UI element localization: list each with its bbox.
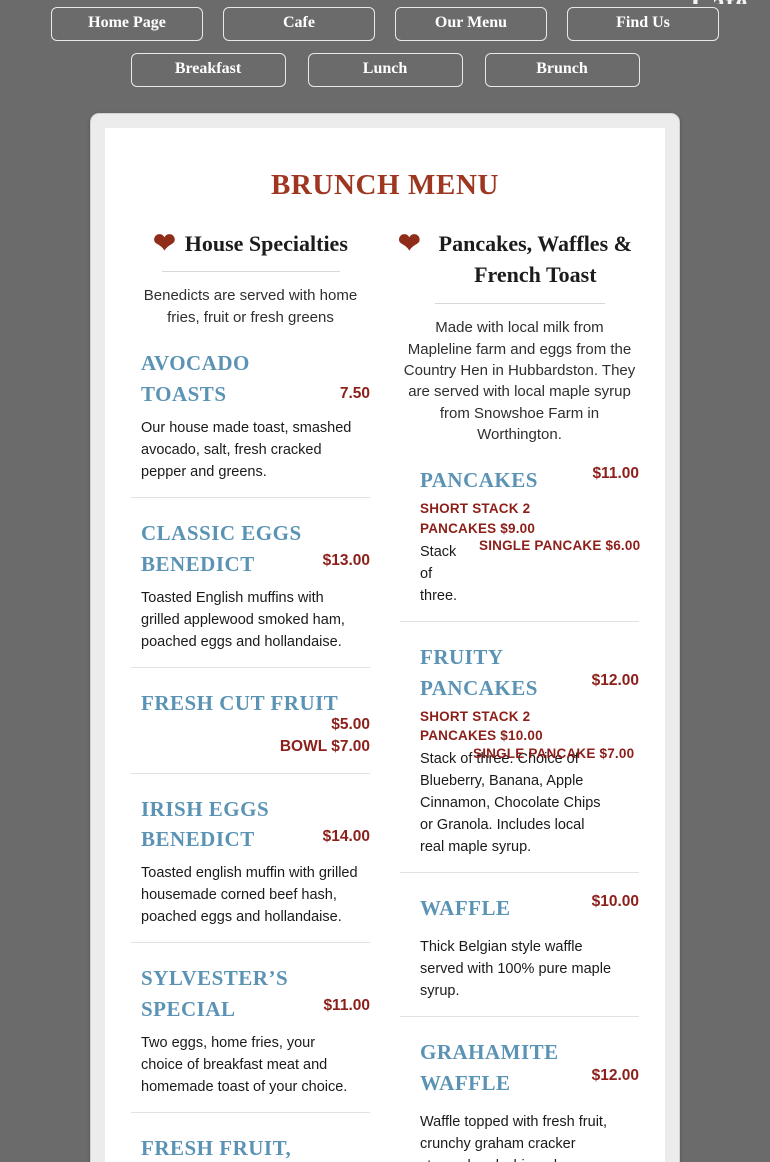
menu-item-name: SYLVESTER’S SPECIAL: [141, 963, 313, 1025]
menu-page-frame: BRUNCH MENU ❤ House Specialties Benedict…: [90, 113, 680, 1162]
menu-item-description: Our house made toast, smashed avocado, s…: [141, 417, 356, 483]
site-logo[interactable]: Cafe: [692, 0, 748, 4]
section-heading-label: House Specialties: [185, 228, 348, 260]
menu-item-name: FRUITY PANCAKES: [420, 642, 545, 704]
menu-item-price: $12.00: [592, 670, 639, 692]
menu-item[interactable]: IRISH EGGS BENEDICT $14.00 Toasted engli…: [129, 774, 372, 943]
menu-item-name: GRAHAMITE WAFFLE: [420, 1037, 570, 1099]
menu-item-description: Stack of three.: [420, 541, 470, 607]
section-note: Made with local milk from Mapleline farm…: [398, 317, 641, 445]
menu-item-price: $14.00: [323, 826, 370, 848]
menu-item-name: IRISH EGGS BENEDICT: [141, 794, 313, 856]
menu-item[interactable]: PANCAKES $11.00 SHORT STACK 2 PANCAKES $…: [398, 445, 641, 621]
menu-item-description: Waffle topped with fresh fruit, crunchy …: [420, 1111, 620, 1162]
menu-item[interactable]: FRUITY PANCAKES $12.00 SHORT STACK 2 PAN…: [398, 622, 641, 873]
menu-item-name: WAFFLE: [420, 893, 592, 924]
heart-icon: ❤: [153, 229, 176, 257]
menu-item-price: $12.00: [592, 1065, 639, 1087]
section-heading-pancakes: ❤ Pancakes, Waffles & French Toast: [398, 228, 641, 292]
menu-item-price: $11.00: [323, 995, 370, 1017]
menu-item-price: $13.00: [323, 550, 370, 572]
menu-item-price: 7.50: [340, 383, 370, 405]
top-navigation: Cafe Home Page Cafe Our Menu Find Us Bre…: [0, 0, 770, 87]
nav-row-secondary: Breakfast Lunch Brunch: [0, 53, 770, 87]
menu-item-name: CLASSIC EGGS BENEDICT: [141, 518, 313, 580]
menu-item[interactable]: WAFFLE $10.00 Thick Belgian style waffle…: [398, 873, 641, 1016]
menu-item-name: FRESH CUT FRUIT: [141, 688, 356, 719]
nav-brunch[interactable]: Brunch: [485, 53, 640, 87]
menu-item[interactable]: SYLVESTER’S SPECIAL $11.00 Two eggs, hom…: [129, 943, 372, 1112]
menu-item[interactable]: FRESH CUT FRUIT $5.00 BOWL $7.00: [129, 668, 372, 773]
menu-item-description: Toasted english muffin with grilled hous…: [141, 862, 363, 928]
menu-item-description: Thick Belgian style waffle served with 1…: [420, 936, 625, 1002]
menu-item-name: FRESH FRUIT, YOGURT &: [141, 1133, 313, 1162]
section-heading-house-specialties: ❤ House Specialties: [129, 228, 372, 260]
menu-item-price: $5.00: [331, 714, 370, 736]
nav-find-us[interactable]: Find Us: [567, 7, 719, 41]
menu-item-name: AVOCADO TOASTS: [141, 348, 313, 410]
menu-item-description: Stack of three. Choice of Blueberry, Ban…: [420, 748, 610, 858]
menu-item[interactable]: GRAHAMITE WAFFLE $12.00 Waffle topped wi…: [398, 1017, 641, 1162]
column-pancakes-waffles-french-toast: ❤ Pancakes, Waffles & French Toast Made …: [398, 228, 641, 1162]
menu-item-short-stack-price: SHORT STACK 2 PANCAKES $10.00: [420, 707, 600, 747]
column-house-specialties: ❤ House Specialties Benedicts are served…: [129, 228, 372, 1162]
menu-item-price: $11.00: [592, 463, 639, 485]
menu-item-short-stack-price: SHORT STACK 2 PANCAKES $9.00: [420, 499, 595, 539]
nav-our-menu[interactable]: Our Menu: [395, 7, 547, 41]
nav-row-primary: Home Page Cafe Our Menu Find Us: [0, 7, 770, 41]
menu-item-description: Toasted English muffins with grilled app…: [141, 587, 356, 653]
heart-icon: ❤: [398, 229, 421, 257]
menu-item-description: Two eggs, home fries, your choice of bre…: [141, 1032, 359, 1098]
section-note: Benedicts are served with home fries, fr…: [129, 285, 372, 328]
nav-home-page[interactable]: Home Page: [51, 7, 203, 41]
nav-cafe[interactable]: Cafe: [223, 7, 375, 41]
menu-item[interactable]: AVOCADO TOASTS 7.50 Our house made toast…: [129, 328, 372, 497]
menu-columns: ❤ House Specialties Benedicts are served…: [129, 228, 641, 1162]
section-divider: [435, 303, 605, 304]
menu-item-single-price: SINGLE PANCAKE $7.00: [473, 746, 634, 761]
menu-item[interactable]: FRESH FRUIT, YOGURT &: [129, 1113, 372, 1162]
section-heading-label: Pancakes, Waffles & French Toast: [430, 228, 641, 292]
nav-breakfast[interactable]: Breakfast: [131, 53, 286, 87]
menu-item-price-bowl: BOWL $7.00: [280, 736, 370, 758]
page-title: BRUNCH MENU: [129, 169, 641, 202]
nav-lunch[interactable]: Lunch: [308, 53, 463, 87]
menu-item-price: $10.00: [592, 891, 639, 913]
menu-item[interactable]: CLASSIC EGGS BENEDICT $13.00 Toasted Eng…: [129, 498, 372, 667]
menu-item-single-price: SINGLE PANCAKE $6.00: [479, 538, 640, 553]
menu-page: BRUNCH MENU ❤ House Specialties Benedict…: [105, 128, 665, 1162]
menu-item-name: PANCAKES: [420, 465, 592, 496]
section-divider: [162, 271, 340, 272]
